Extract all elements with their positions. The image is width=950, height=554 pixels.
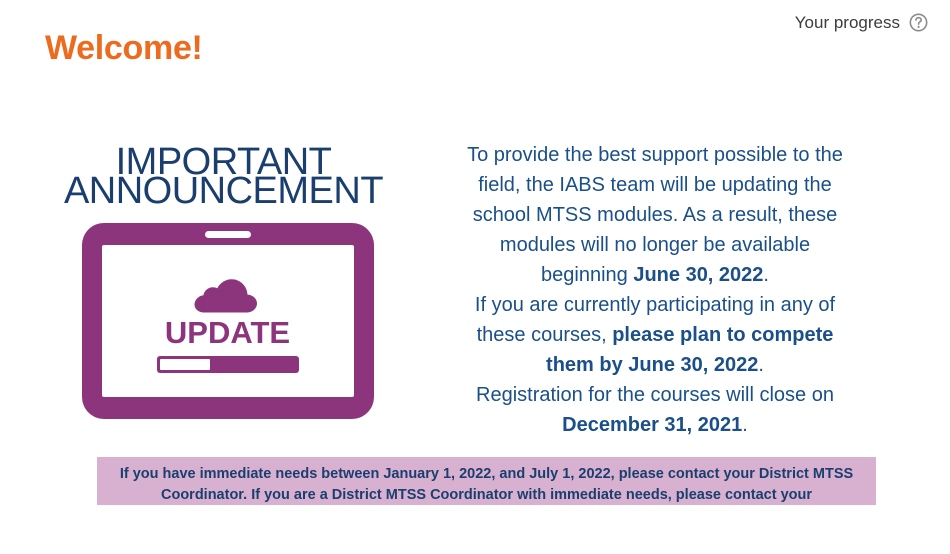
announcement-body: To provide the best support possible to … (455, 140, 855, 440)
update-progress-bar (157, 356, 299, 373)
announcement-p3-text: Registration for the courses will close … (476, 384, 834, 406)
page-title: Welcome! (45, 30, 203, 67)
tablet-illustration: UPDATE (0, 223, 455, 419)
question-circle-icon[interactable] (909, 13, 928, 32)
announcement-block: IMPORTANT ANNOUNCEMENT UPDATE (0, 140, 950, 440)
announcement-paragraph-1: To provide the best support possible to … (455, 140, 855, 290)
update-progress-fill (160, 359, 210, 370)
announcement-heading-line-2: ANNOUNCEMENT (0, 175, 447, 208)
tablet-screen: UPDATE (102, 245, 354, 397)
tablet-icon: UPDATE (82, 223, 374, 419)
cloud-icon (192, 271, 264, 315)
announcement-paragraph-2: If you are currently participating in an… (455, 290, 855, 380)
announcement-paragraph-3: Registration for the courses will close … (455, 380, 855, 440)
immediate-needs-callout: If you have immediate needs between Janu… (97, 457, 876, 505)
announcement-heading: IMPORTANT ANNOUNCEMENT (0, 146, 455, 207)
announcement-p2-period: . (758, 354, 764, 376)
tablet-speaker-icon (205, 231, 251, 238)
announcement-p1-date: June 30, 2022 (633, 264, 763, 286)
announcement-graphic-column: IMPORTANT ANNOUNCEMENT UPDATE (0, 140, 455, 419)
announcement-p1-period: . (763, 264, 769, 286)
announcement-p3-period: . (742, 414, 748, 436)
announcement-text-column: To provide the best support possible to … (455, 140, 950, 440)
announcement-p3-date: December 31, 2021 (562, 414, 742, 436)
your-progress-label: Your progress (795, 14, 900, 31)
update-word: UPDATE (165, 317, 290, 348)
immediate-needs-callout-text: If you have immediate needs between Janu… (111, 464, 862, 505)
your-progress-control[interactable]: Your progress (795, 8, 928, 36)
